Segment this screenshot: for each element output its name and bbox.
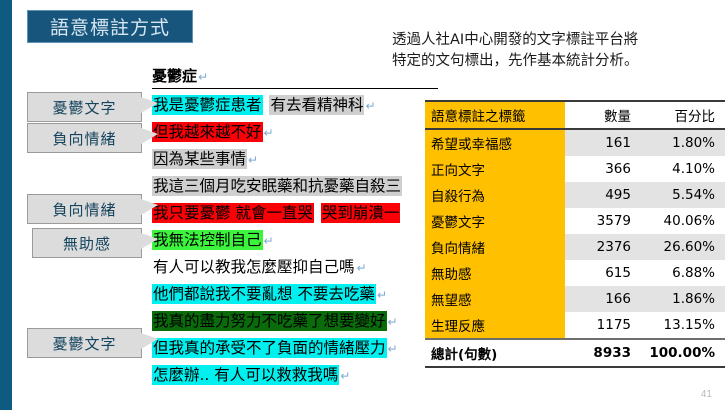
callout-label: 憂鬱文字 xyxy=(52,333,116,354)
text-segment xyxy=(314,203,321,223)
row-label: 憂鬱文字 xyxy=(425,208,565,234)
paragraph-mark-icon: ↵ xyxy=(356,260,368,276)
row-percent: 26.60% xyxy=(637,234,725,260)
intro-paragraph: 透過人社AI中心開發的文字標註平台將 特定的文句標出，先作基本統計分析。 xyxy=(392,30,728,71)
row-count: 1175 xyxy=(565,312,637,339)
row-label: 負向情緒 xyxy=(425,234,565,260)
left-accent-bar xyxy=(0,0,12,410)
header-label: 語意標註之標籤 xyxy=(425,101,565,129)
annotated-text-line: 有人可以教我怎麼壓抑自己嗎↵ xyxy=(152,254,442,281)
document-heading-rule xyxy=(152,88,438,89)
total-count: 8933 xyxy=(565,339,637,367)
paragraph-mark-icon: ↵ xyxy=(263,125,275,141)
row-percent: 1.80% xyxy=(637,129,725,156)
annotated-text-body: 我是憂鬱症患者 有去看精神科↵但我越來越不好↵因為某些事情↵我這三個月吃安眠藥和… xyxy=(152,92,442,392)
callout-pointer-icon xyxy=(141,128,158,144)
row-count: 166 xyxy=(565,286,637,312)
callout-pointer-icon xyxy=(141,333,158,349)
text-segment: 哭到崩潰一 xyxy=(321,203,401,223)
table-head: 語意標註之標籤 數量 百分比 xyxy=(425,101,725,129)
callout-pointer-icon xyxy=(141,97,158,113)
annotated-text-line: 我只要憂鬱 就會一直哭 哭到崩潰一 xyxy=(152,200,442,227)
table-row: 負向情緒237626.60% xyxy=(425,234,725,260)
text-segment: 我無法控制自己 xyxy=(152,230,263,250)
document-heading: 憂鬱症↵ xyxy=(152,65,208,86)
row-percent: 1.86% xyxy=(637,286,725,312)
row-label: 正向文字 xyxy=(425,156,565,182)
text-segment: 我是憂鬱症患者 xyxy=(152,95,263,115)
slide-title-box: 語意標註方式 xyxy=(27,10,193,43)
callout-5[interactable]: 憂鬱文字 xyxy=(27,328,142,358)
table-body: 希望或幸福感1611.80%正向文字3664.10%自殺行為4955.54%憂鬱… xyxy=(425,129,725,367)
annotated-text-line: 因為某些事情↵ xyxy=(152,146,442,173)
table-row: 正向文字3664.10% xyxy=(425,156,725,182)
table-row: 希望或幸福感1611.80% xyxy=(425,129,725,156)
paragraph-mark-icon: ↵ xyxy=(387,341,399,357)
callout-label: 無助感 xyxy=(63,233,111,254)
annotated-text-line: 我這三個月吃安眠藥和抗憂藥自殺三 xyxy=(152,173,442,200)
paragraph-mark-icon: ↵ xyxy=(387,314,399,330)
annotated-text-line: 但我真的承受不了負面的情緒壓力↵ xyxy=(152,335,442,362)
annotated-text-line: 我是憂鬱症患者 有去看精神科↵ xyxy=(152,92,442,119)
paragraph-mark-icon: ↵ xyxy=(247,152,259,168)
text-segment: 但我越來越不好 xyxy=(152,122,263,142)
row-label: 生理反應 xyxy=(425,312,565,339)
row-count: 3579 xyxy=(565,208,637,234)
callout-label: 憂鬱文字 xyxy=(52,97,116,118)
row-count: 495 xyxy=(565,182,637,208)
paragraph-mark-icon: ↵ xyxy=(198,70,208,84)
page-number: 41 xyxy=(701,389,712,400)
annotated-text-line: 但我越來越不好↵ xyxy=(152,119,442,146)
text-segment: 我真的盡力努力不吃藥了想要變好 xyxy=(152,311,387,331)
row-label: 無助感 xyxy=(425,260,565,286)
document-heading-text: 憂鬱症 xyxy=(152,67,197,85)
callout-4[interactable]: 無助感 xyxy=(32,228,142,258)
table-row: 生理反應117513.15% xyxy=(425,312,725,339)
paragraph-mark-icon: ↵ xyxy=(364,98,376,114)
table-row: 自殺行為4955.54% xyxy=(425,182,725,208)
row-count: 366 xyxy=(565,156,637,182)
callout-3[interactable]: 負向情緒 xyxy=(27,194,142,224)
text-segment: 我只要憂鬱 就會一直哭 xyxy=(152,203,314,223)
callout-label: 負向情緒 xyxy=(52,199,116,220)
header-count: 數量 xyxy=(565,101,637,129)
slide-canvas: 語意標註方式 透過人社AI中心開發的文字標註平台將 特定的文句標出，先作基本統計… xyxy=(0,0,728,410)
intro-line-2: 特定的文句標出，先作基本統計分析。 xyxy=(392,51,728,72)
text-segment: 有人可以教我怎麼壓抑自己嗎 xyxy=(152,257,356,277)
row-label: 無望感 xyxy=(425,286,565,312)
paragraph-mark-icon: ↵ xyxy=(339,368,351,384)
total-label: 總計(句數) xyxy=(425,339,565,367)
annotated-text-line: 怎麼辦.. 有人可以救救我嗎↵ xyxy=(152,362,442,389)
callout-pointer-icon xyxy=(141,199,158,215)
callout-pointer-icon xyxy=(141,233,158,249)
annotated-text-line: 我無法控制自己↵ xyxy=(152,227,442,254)
row-percent: 4.10% xyxy=(637,156,725,182)
table-row: 無望感1661.86% xyxy=(425,286,725,312)
text-segment: 他們都說我不要亂想 不要去吃藥 xyxy=(152,284,376,304)
text-segment: 有去看精神科 xyxy=(269,95,364,115)
callout-label: 負向情緒 xyxy=(52,128,116,149)
row-percent: 5.54% xyxy=(637,182,725,208)
table-row: 憂鬱文字357940.06% xyxy=(425,208,725,234)
row-percent: 40.06% xyxy=(637,208,725,234)
paragraph-mark-icon: ↵ xyxy=(263,233,275,249)
total-percent: 100.00% xyxy=(637,339,725,367)
annotated-text-line: 他們都說我不要亂想 不要去吃藥↵ xyxy=(152,281,442,308)
left-accent-bar-separator xyxy=(12,0,15,410)
row-percent: 6.88% xyxy=(637,260,725,286)
text-segment: 怎麼辦.. 有人可以救救我嗎 xyxy=(152,365,339,385)
text-segment: 因為某些事情 xyxy=(152,149,247,169)
row-percent: 13.15% xyxy=(637,312,725,339)
callout-1[interactable]: 憂鬱文字 xyxy=(27,92,142,122)
slide-title: 語意標註方式 xyxy=(50,13,170,40)
statistics-table: 語意標註之標籤 數量 百分比 希望或幸福感1611.80%正向文字3664.10… xyxy=(425,100,725,368)
text-segment: 我這三個月吃安眠藥和抗憂藥自殺三 xyxy=(152,176,402,196)
row-count: 161 xyxy=(565,129,637,156)
row-count: 615 xyxy=(565,260,637,286)
row-count: 2376 xyxy=(565,234,637,260)
row-label: 自殺行為 xyxy=(425,182,565,208)
row-label: 希望或幸福感 xyxy=(425,129,565,156)
text-segment: 但我真的承受不了負面的情緒壓力 xyxy=(152,338,387,358)
table-header-row: 語意標註之標籤 數量 百分比 xyxy=(425,101,725,129)
table-row: 無助感6156.88% xyxy=(425,260,725,286)
header-percent: 百分比 xyxy=(637,101,725,129)
callout-2[interactable]: 負向情緒 xyxy=(27,123,142,153)
table-total-row: 總計(句數)8933100.00% xyxy=(425,339,725,367)
annotated-text-line: 我真的盡力努力不吃藥了想要變好↵ xyxy=(152,308,442,335)
intro-line-1: 透過人社AI中心開發的文字標註平台將 xyxy=(392,30,728,51)
paragraph-mark-icon: ↵ xyxy=(376,287,388,303)
